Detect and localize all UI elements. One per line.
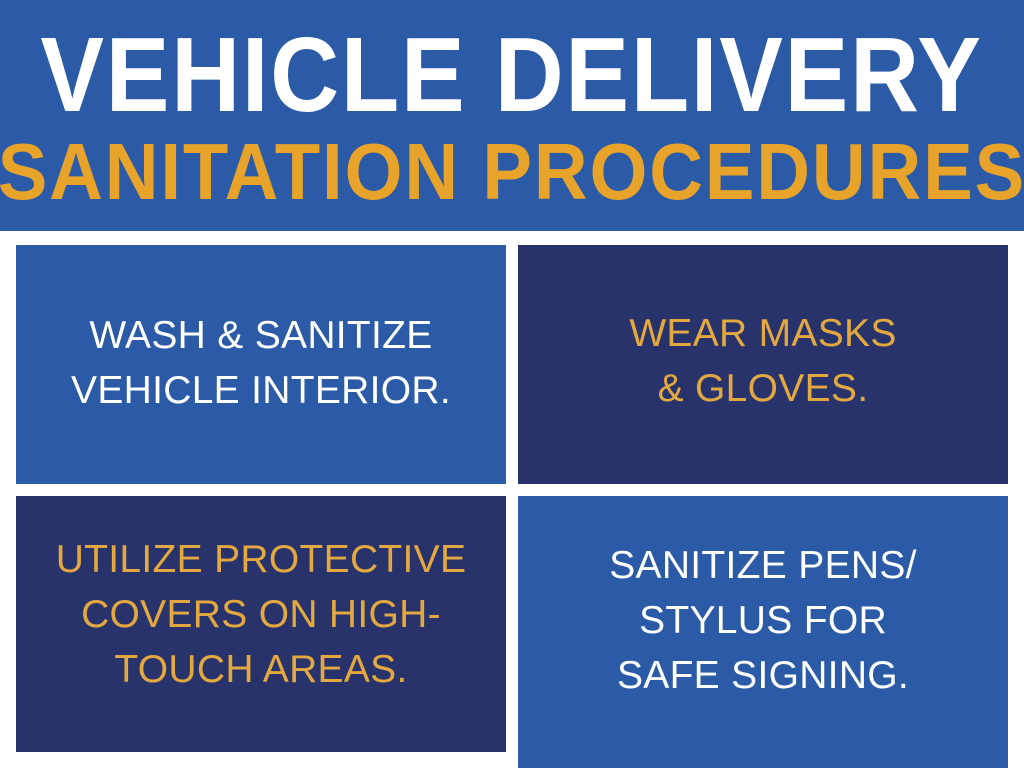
card-text: UTILIZE PROTECTIVE COVERS ON HIGH- TOUCH… bbox=[56, 532, 467, 697]
card-wash-sanitize-interior: WASH & SANITIZE VEHICLE INTERIOR. bbox=[16, 245, 506, 484]
card-protective-covers-high-touch: UTILIZE PROTECTIVE COVERS ON HIGH- TOUCH… bbox=[16, 496, 506, 752]
card-text: SANITIZE PENS/ STYLUS FOR SAFE SIGNING. bbox=[609, 538, 917, 703]
header-banner: VEHICLE DELIVERY SANITATION PROCEDURES bbox=[0, 0, 1024, 231]
poster-subtitle-line-2: SANITATION PROCEDURES bbox=[0, 132, 1024, 212]
card-text: WASH & SANITIZE VEHICLE INTERIOR. bbox=[71, 308, 451, 418]
card-wear-masks-gloves: WEAR MASKS & GLOVES. bbox=[518, 245, 1008, 484]
card-text: WEAR MASKS & GLOVES. bbox=[629, 306, 896, 416]
poster-title-line-1: VEHICLE DELIVERY bbox=[41, 22, 983, 128]
sanitation-procedures-infographic: VEHICLE DELIVERY SANITATION PROCEDURES W… bbox=[0, 0, 1024, 768]
card-sanitize-pens-stylus: SANITIZE PENS/ STYLUS FOR SAFE SIGNING. bbox=[518, 496, 1008, 768]
